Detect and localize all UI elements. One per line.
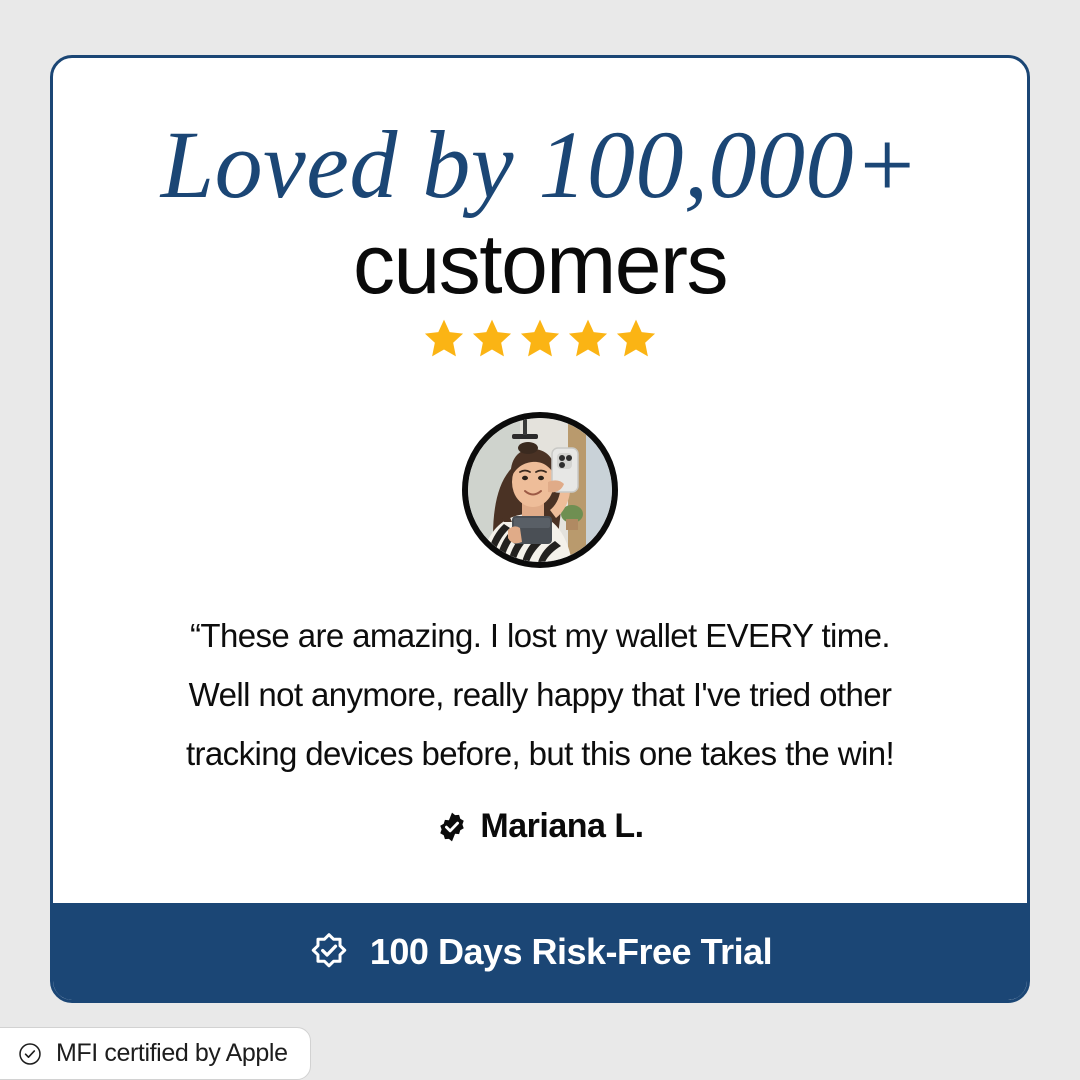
mfi-certification-chip[interactable]: MFI certified by Apple: [0, 1027, 311, 1080]
star-icon: [566, 316, 610, 360]
verified-badge-icon: [436, 811, 468, 843]
check-circle-icon: [17, 1041, 43, 1067]
attribution: Mariana L.: [436, 807, 643, 846]
star-icon: [470, 316, 514, 360]
quote-line-1: “These are amazing. I lost my wallet EVE…: [140, 606, 940, 665]
star-rating: [422, 316, 658, 360]
card-body: Loved by 100,000+ customers: [53, 58, 1027, 903]
star-icon: [422, 316, 466, 360]
guarantee-footer-bar: 100 Days Risk-Free Trial: [53, 903, 1027, 1000]
star-icon: [614, 316, 658, 360]
headline-secondary: customers: [353, 220, 727, 308]
star-icon: [518, 316, 562, 360]
guarantee-label: 100 Days Risk-Free Trial: [370, 931, 772, 973]
quote-line-2: Well not anymore, really happy that I've…: [140, 665, 940, 724]
avatar: [462, 412, 618, 568]
quote-line-3: tracking devices before, but this one ta…: [140, 724, 940, 783]
testimonial-quote: “These are amazing. I lost my wallet EVE…: [140, 606, 940, 783]
customer-avatar-photo: [468, 418, 612, 562]
mfi-chip-label: MFI certified by Apple: [56, 1039, 288, 1068]
guarantee-badge-icon: [308, 931, 350, 973]
reviewer-name: Mariana L.: [480, 807, 643, 846]
headline-primary: Loved by 100,000+: [161, 116, 920, 214]
testimonial-card: Loved by 100,000+ customers: [50, 55, 1030, 1003]
